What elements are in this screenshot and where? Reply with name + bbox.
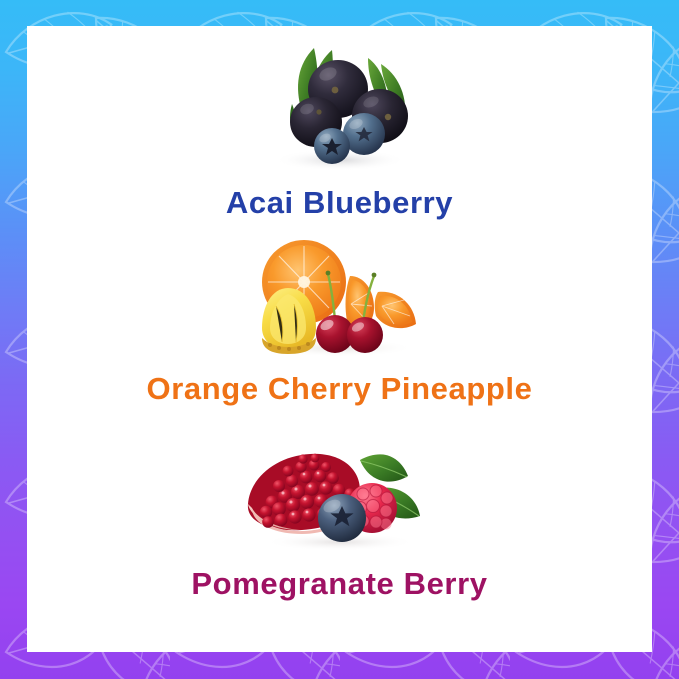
- acai-blueberry-fruit-image: [240, 34, 440, 174]
- orange-cherry-pineapple-fruit-image: [232, 232, 447, 357]
- flavor-label-orange-cherry-pineapple: Orange Cherry Pineapple: [147, 373, 533, 404]
- pomegranate-berry-fruit-image: [232, 432, 447, 552]
- blueberry: [318, 494, 366, 542]
- flavor-label-pomegranate-berry: Pomegranate Berry: [191, 568, 487, 599]
- flavor-row-acai-blueberry: Acai Blueberry: [27, 34, 652, 232]
- orange-wedge-right: [375, 292, 416, 328]
- flavor-row-pomegranate-berry: Pomegranate Berry: [27, 432, 652, 638]
- fruit-flavor-lineup-panel: Acai Blueberry: [0, 0, 679, 679]
- flavor-label-acai-blueberry: Acai Blueberry: [226, 187, 453, 218]
- flavor-row-orange-cherry-pineapple: Orange Cherry Pineapple: [27, 232, 652, 432]
- flavor-card: Acai Blueberry: [27, 26, 652, 652]
- cherry-right: [347, 317, 383, 353]
